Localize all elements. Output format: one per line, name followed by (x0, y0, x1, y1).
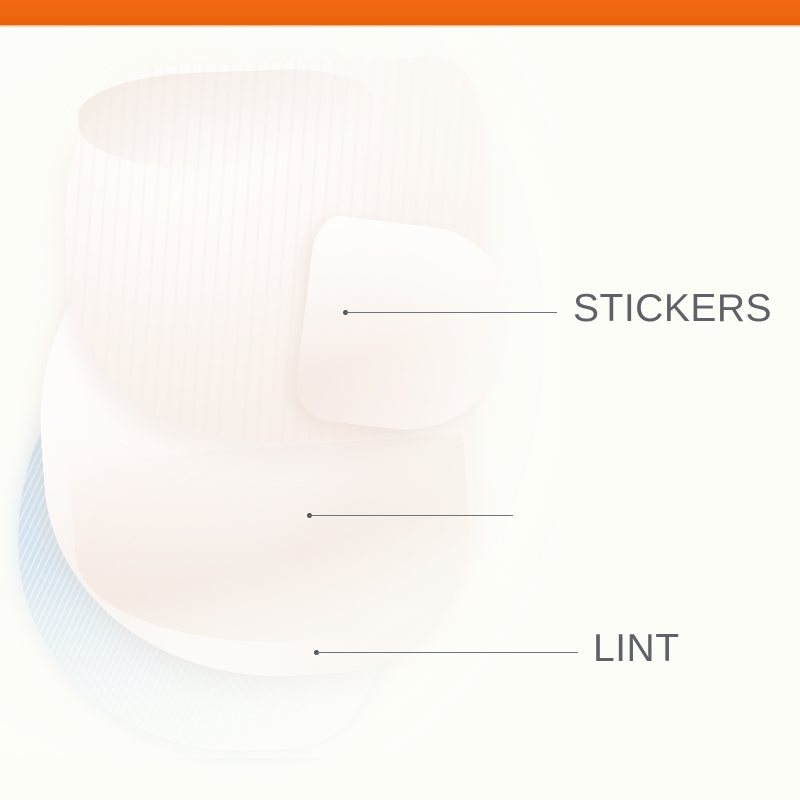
callout-label-lint: LINT (593, 629, 680, 669)
callout-label-stickers: STICKERS (573, 289, 772, 329)
product-infographic: STICKERS COLLAGEN MEMBRANE LINT (0, 0, 800, 800)
leader-line-stickers (345, 312, 557, 313)
mask-product-photo (0, 28, 560, 758)
leader-line-collagen (309, 515, 513, 516)
stickers-layer (59, 55, 492, 449)
leader-line-lint (316, 652, 578, 653)
top-orange-banner (0, 0, 800, 25)
